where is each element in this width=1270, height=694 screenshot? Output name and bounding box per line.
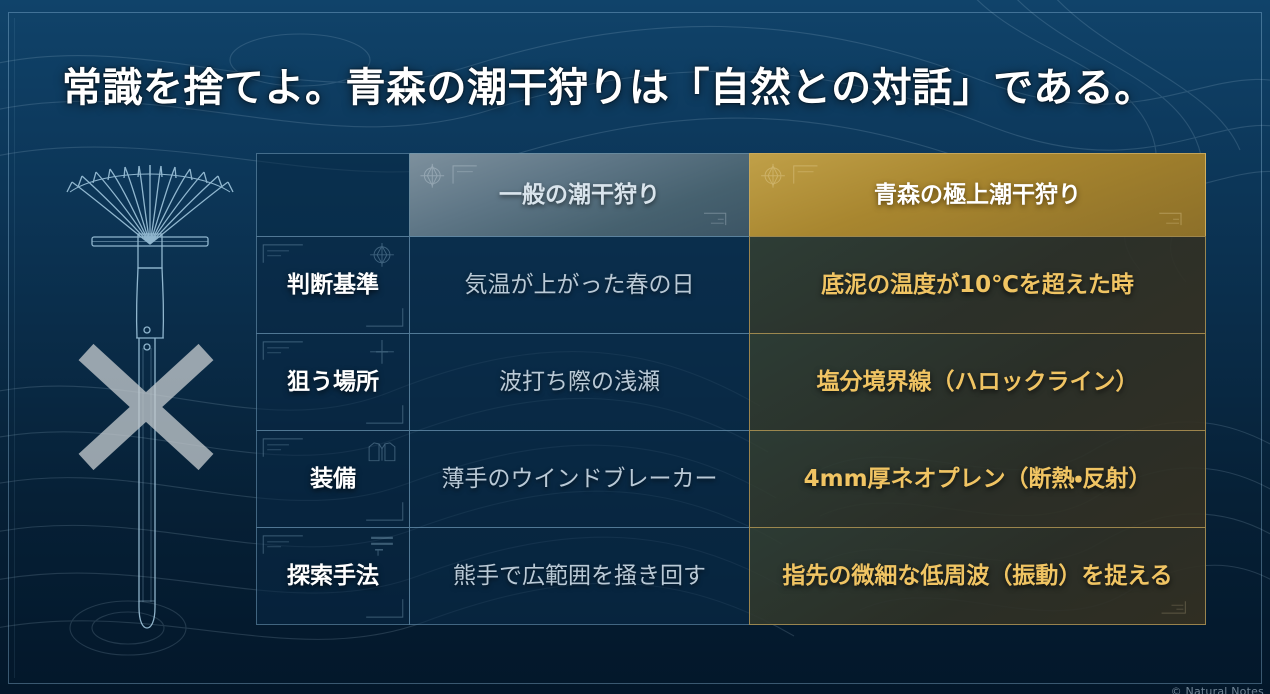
- column-header-aomori-label: 青森の極上潮干狩り: [864, 181, 1091, 210]
- column-header-common: 一般の潮干狩り: [409, 153, 750, 237]
- row-label-text: 探索手法: [277, 562, 389, 591]
- cell-text: 気温が上がった春の日: [455, 271, 705, 300]
- table-cell-aomori: 底泥の温度が10℃を超えた時: [749, 236, 1206, 334]
- comparison-table: 一般の潮干狩り 青森の極上潮干狩り: [257, 154, 1206, 625]
- cell-text: 4mm厚ネオプレン（断熱・反射）: [794, 465, 1162, 494]
- table-row-label: 探索手法: [256, 527, 410, 625]
- page-title: 常識を捨てよ。青森の潮干狩りは「自然との対話」である。: [62, 55, 1155, 113]
- slide-stage: 常識を捨てよ。青森の潮干狩りは「自然との対話」である。: [0, 0, 1270, 694]
- cell-text: 薄手のウインドブレーカー: [432, 465, 728, 494]
- row-label-text: 装備: [300, 465, 366, 494]
- cell-text: 塩分境界線（ハロックライン）: [807, 368, 1149, 397]
- table-cell-common: 熊手で広範囲を掻き回す: [409, 527, 750, 625]
- row-label-text: 狙う場所: [277, 368, 389, 397]
- rake-blueprint-illustration: [44, 152, 256, 640]
- table-cell-aomori: 塩分境界線（ハロックライン）: [749, 333, 1206, 431]
- table-cell-aomori: 指先の微細な低周波（振動）を捉える: [749, 527, 1206, 625]
- column-header-aomori: 青森の極上潮干狩り: [749, 153, 1206, 237]
- table-cell-common: 薄手のウインドブレーカー: [409, 430, 750, 528]
- cell-text: 指先の微細な低周波（振動）を捉える: [772, 562, 1182, 591]
- table-cell-aomori: 4mm厚ネオプレン（断熱・反射）: [749, 430, 1206, 528]
- cell-text: 熊手で広範囲を掻き回す: [443, 562, 716, 591]
- cell-text: 底泥の温度が10℃を超えた時: [811, 271, 1144, 300]
- table-corner-header: [256, 153, 410, 237]
- table-row-label: 判断基準: [256, 236, 410, 334]
- table-row-label: 装備: [256, 430, 410, 528]
- row-label-text: 判断基準: [277, 271, 389, 300]
- table-cell-common: 波打ち際の浅瀬: [409, 333, 750, 431]
- table-row-label: 狙う場所: [256, 333, 410, 431]
- column-header-common-label: 一般の潮干狩り: [489, 181, 670, 210]
- cell-text: 波打ち際の浅瀬: [489, 368, 670, 397]
- table-cell-common: 気温が上がった春の日: [409, 236, 750, 334]
- watermark: © Natural Notes: [1171, 685, 1264, 694]
